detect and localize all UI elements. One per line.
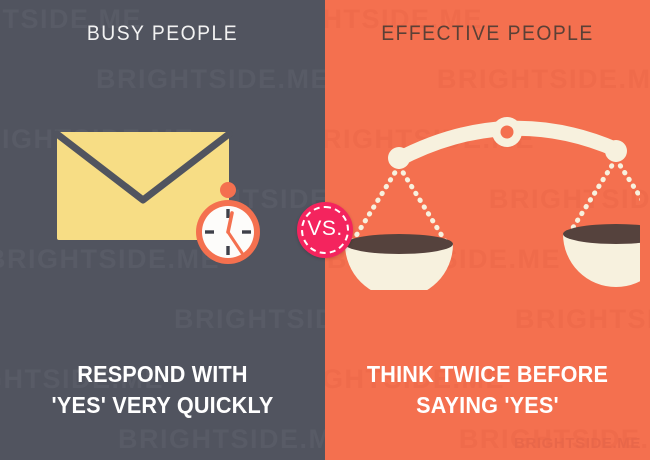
vs-badge-label: VS. [297,202,353,258]
caption-line: SAYING 'YES' [335,390,641,420]
right-panel-caption: THINK TWICE BEFORE SAYING 'YES' [335,359,641,420]
watermark-text: BRIGHTSIDE.ME [96,64,325,95]
watermark-text: BRIGHTSIDE.ME [437,64,650,95]
scale-center-ring [492,117,522,147]
watermark-text: BRIGHTSIDE.ME [515,304,650,335]
infographic-canvas: BRIGHTSIDE.ME BRIGHTSIDE.ME BRIGHTSIDE.M… [0,0,650,460]
left-panel-title: BUSY PEOPLE [13,22,312,46]
caption-line: RESPOND WITH [10,359,316,389]
effective-people-panel: BRIGHTSIDE.ME BRIGHTSIDE.ME BRIGHTSIDE.M… [325,0,650,460]
scale-bowl-left [345,234,453,290]
brand-watermark: BRIGHTSIDE.ME [514,435,641,452]
watermark-text: BRIGHTSIDE.ME [118,424,325,455]
right-panel-title: EFFECTIVE PEOPLE [338,22,637,46]
scale-chain-right [569,159,640,234]
watermark-text: BRIGHTSIDE.ME [174,304,325,335]
caption-line: THINK TWICE BEFORE [335,359,641,389]
left-panel-caption: RESPOND WITH 'YES' VERY QUICKLY [10,359,316,420]
caption-line: 'YES' VERY QUICKLY [10,390,316,420]
balance-scales-illustration [335,100,640,295]
envelope-with-clock-illustration [45,112,285,287]
scale-chain-left [351,166,447,244]
busy-people-panel: BRIGHTSIDE.ME BRIGHTSIDE.ME BRIGHTSIDE.M… [0,0,325,460]
vs-badge: VS. [297,202,353,258]
scale-bowl-right [563,224,640,287]
